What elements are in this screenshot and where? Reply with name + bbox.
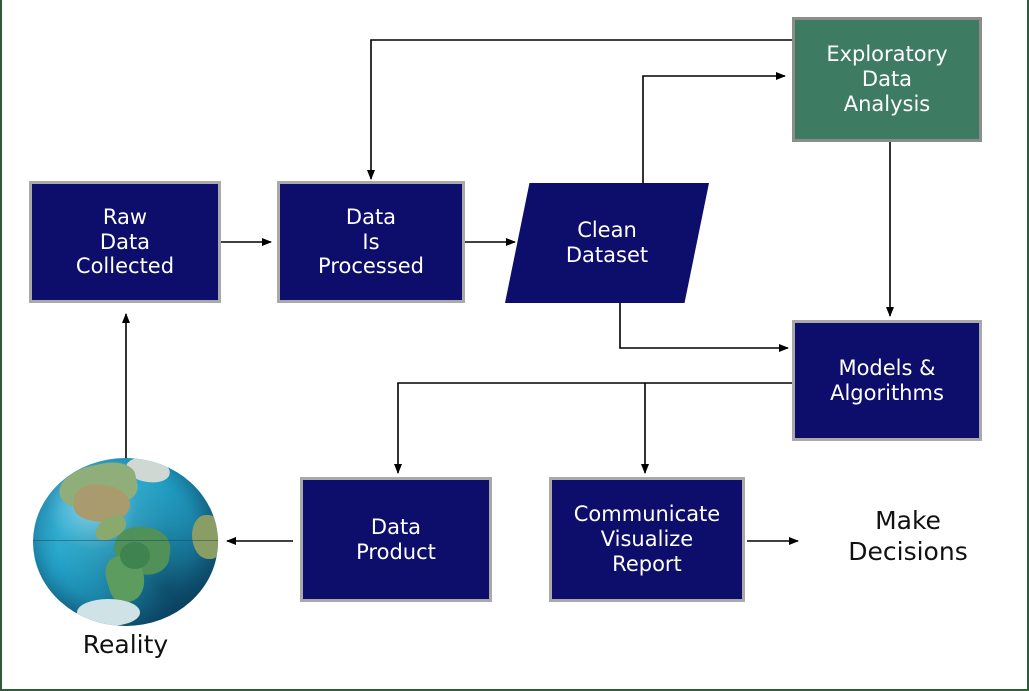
landmass-antarctic xyxy=(77,599,140,626)
equator-line xyxy=(33,540,218,541)
node-label: Raw Data Collected xyxy=(76,205,174,279)
node-exploratory-data-analysis[interactable]: Exploratory Data Analysis xyxy=(792,17,982,142)
diagram-canvas: Raw Data Collected Data Is Processed Cle… xyxy=(0,0,1029,691)
landmass-africa-edge xyxy=(192,515,218,559)
edge-models-to-data-product xyxy=(398,383,792,473)
node-label: Clean Dataset xyxy=(566,218,648,268)
landmass-amazon xyxy=(120,542,150,569)
node-communicate-visualize-report[interactable]: Communicate Visualize Report xyxy=(549,477,745,602)
globe-icon xyxy=(33,458,218,626)
node-data-is-processed[interactable]: Data Is Processed xyxy=(277,181,465,303)
node-label: Exploratory Data Analysis xyxy=(826,42,947,116)
node-raw-data-collected[interactable]: Raw Data Collected xyxy=(29,181,221,303)
node-clean-dataset[interactable]: Clean Dataset xyxy=(505,183,709,303)
edge-clean-to-models xyxy=(620,303,788,348)
edge-eda-to-processed xyxy=(371,40,792,179)
globe-caption: Reality xyxy=(33,630,218,659)
edge-clean-to-eda xyxy=(643,76,785,186)
node-label: Communicate Visualize Report xyxy=(574,502,720,576)
node-data-product[interactable]: Data Product xyxy=(300,477,492,602)
reality-globe: Reality xyxy=(33,458,218,626)
node-models-and-algorithms[interactable]: Models & Algorithms xyxy=(792,320,982,441)
node-make-decisions: Make Decisions xyxy=(808,505,1008,568)
node-label: Data Is Processed xyxy=(318,205,424,279)
node-label: Models & Algorithms xyxy=(830,356,944,406)
node-label: Data Product xyxy=(356,515,436,565)
